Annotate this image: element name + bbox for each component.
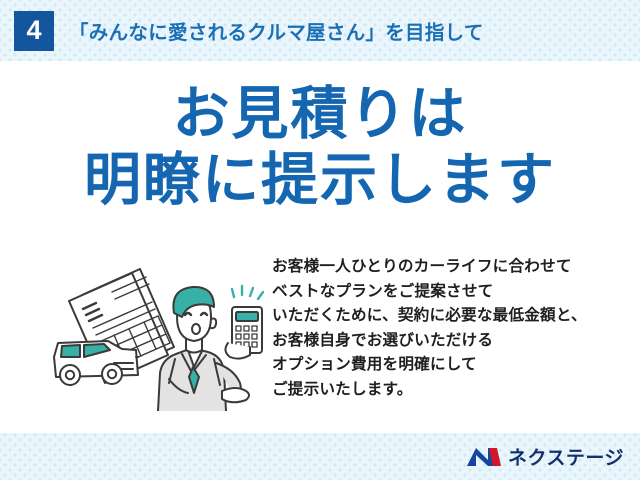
illustration [36, 251, 276, 411]
promo-banner: 4 「みんなに愛されるクルマ屋さん」を目指して お見積りは 明瞭に提示します [0, 0, 640, 480]
body-text: お客様一人ひとりのカーライフに合わせて ベストなプランをご提案させて いただくた… [272, 255, 622, 403]
page-title: お見積りは 明瞭に提示します [0, 81, 640, 213]
body-line-3: いただくために、契約に必要な最低金額と、 [272, 304, 622, 329]
nextage-n-mark-icon [466, 445, 502, 469]
header-bar: 4 「みんなに愛されるクルマ屋さん」を目指して [0, 0, 640, 61]
body-line-2: ベストなプランをご提案させて [272, 280, 622, 305]
body-line-4: お客様自身でお選びいただける [272, 329, 622, 354]
body-line-1: お客様一人ひとりのカーライフに合わせて [272, 255, 622, 280]
headline-line-1: お見積りは [0, 81, 640, 147]
header-title: 「みんなに愛されるクルマ屋さん」を目指して [69, 16, 484, 45]
body-line-5: オプション費用を明確にして [272, 353, 622, 378]
section-number-badge: 4 [14, 11, 54, 51]
estimate-illustration-graphic [36, 251, 276, 411]
headline-line-2: 明瞭に提示します [0, 147, 640, 213]
footer-bar: ネクステージ [0, 433, 640, 480]
brand-logo: ネクステージ [466, 443, 624, 470]
body-line-6: ご提示いたします。 [272, 378, 622, 403]
brand-name: ネクステージ [508, 443, 624, 470]
content-panel: お見積りは 明瞭に提示します [0, 61, 640, 433]
